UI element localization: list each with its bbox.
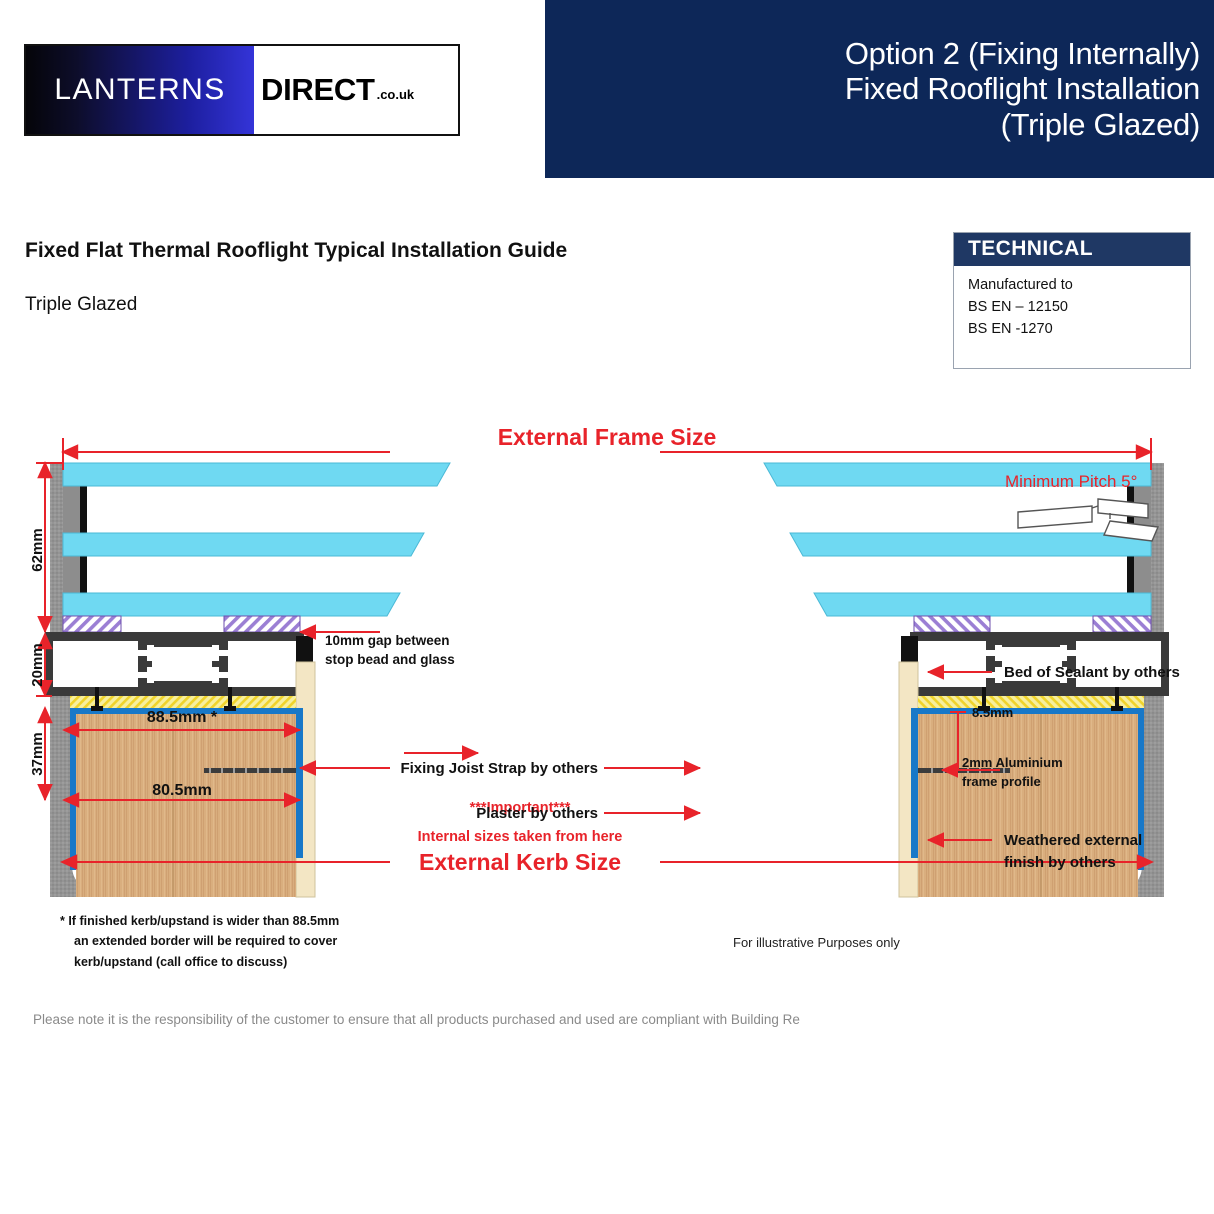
logo-text-panel: DIRECT .co.uk <box>254 46 458 134</box>
glass-pane-inner-left <box>63 593 400 616</box>
glazing-tape-left-b <box>224 616 300 632</box>
kerb-footnote-line2: an extended border will be required to c… <box>74 931 339 951</box>
glass-pane-middle-left <box>63 533 424 556</box>
illustrative-purposes-note: For illustrative Purposes only <box>733 935 900 950</box>
label-external-kerb-size: External Kerb Size <box>419 849 621 875</box>
glass-pane-outer-left <box>63 463 450 486</box>
stop-bead-left <box>296 636 313 662</box>
dimension-88-5mm: 88.5mm * <box>147 709 218 726</box>
callout-plaster: Plaster by others <box>476 805 598 822</box>
technical-line-2: BS EN – 12150 <box>968 296 1190 318</box>
dimension-20mm: 20mm <box>29 643 46 686</box>
dimension-62mm: 62mm <box>29 528 46 571</box>
technical-box: TECHNICAL Manufactured to BS EN – 12150 … <box>953 232 1191 369</box>
left-section-assembly <box>45 463 450 897</box>
label-minimum-pitch: Minimum Pitch 5° <box>1005 472 1137 491</box>
sealant-bed-left <box>70 696 296 708</box>
callout-gap-note-line2: stop bead and glass <box>325 652 455 667</box>
kerb-footnote-line1: * If finished kerb/upstand is wider than… <box>60 911 339 931</box>
logo-gradient-panel: LANTERNS <box>26 46 254 134</box>
aluminium-frame-profile-left <box>45 632 304 696</box>
callout-alu-profile-line2: frame profile <box>962 774 1041 789</box>
technical-line-3: BS EN -1270 <box>968 318 1190 340</box>
building-regs-disclaimer: Please note it is the responsibility of … <box>33 1012 800 1027</box>
callout-bed-of-sealant: Bed of Sealant by others <box>1004 664 1180 681</box>
glazing-tape-left-a <box>63 616 121 632</box>
kerb-footnote-line3: kerb/upstand (call office to discuss) <box>74 952 339 972</box>
banner-line-1: Option 2 (Fixing Internally) <box>845 36 1200 71</box>
dimension-37mm: 37mm <box>29 732 46 775</box>
installation-cross-section-diagram: External Frame Size External Kerb Size 6… <box>0 400 1214 980</box>
callout-alu-profile-line1: 2mm Aluminium <box>962 755 1063 770</box>
logo-suffix-couk: .co.uk <box>377 87 415 102</box>
logo-word-direct: DIRECT <box>261 72 375 108</box>
dimension-8-5mm: 8.5mm <box>972 705 1013 720</box>
banner-line-3: (Triple Glazed) <box>1001 107 1200 142</box>
page-title: Fixed Flat Thermal Rooflight Typical Ins… <box>25 239 567 263</box>
technical-body: Manufactured to BS EN – 12150 BS EN -127… <box>954 266 1190 340</box>
dimension-80-5mm: 80.5mm <box>152 782 212 799</box>
technical-line-1: Manufactured to <box>968 274 1190 296</box>
brand-logo: LANTERNS DIRECT .co.uk <box>24 44 460 136</box>
callout-internal-sizes: Internal sizes taken from here <box>418 829 623 845</box>
callout-fixing-joist-strap: Fixing Joist Strap by others <box>400 760 598 777</box>
technical-heading: TECHNICAL <box>954 233 1190 266</box>
timber-kerb-left <box>76 714 296 897</box>
callout-weathered-line2: finish by others <box>1004 854 1116 871</box>
label-external-frame-size: External Frame Size <box>498 424 717 450</box>
banner-line-2: Fixed Rooflight Installation <box>845 71 1200 106</box>
callout-gap-note-line1: 10mm gap between <box>325 633 450 648</box>
callout-weathered-line1: Weathered external <box>1004 832 1142 849</box>
logo-word-lanterns: LANTERNS <box>54 73 225 107</box>
page-subtitle: Triple Glazed <box>25 294 137 316</box>
header-banner: Option 2 (Fixing Internally) Fixed Roofl… <box>545 0 1214 178</box>
kerb-footnote: * If finished kerb/upstand is wider than… <box>60 911 339 972</box>
